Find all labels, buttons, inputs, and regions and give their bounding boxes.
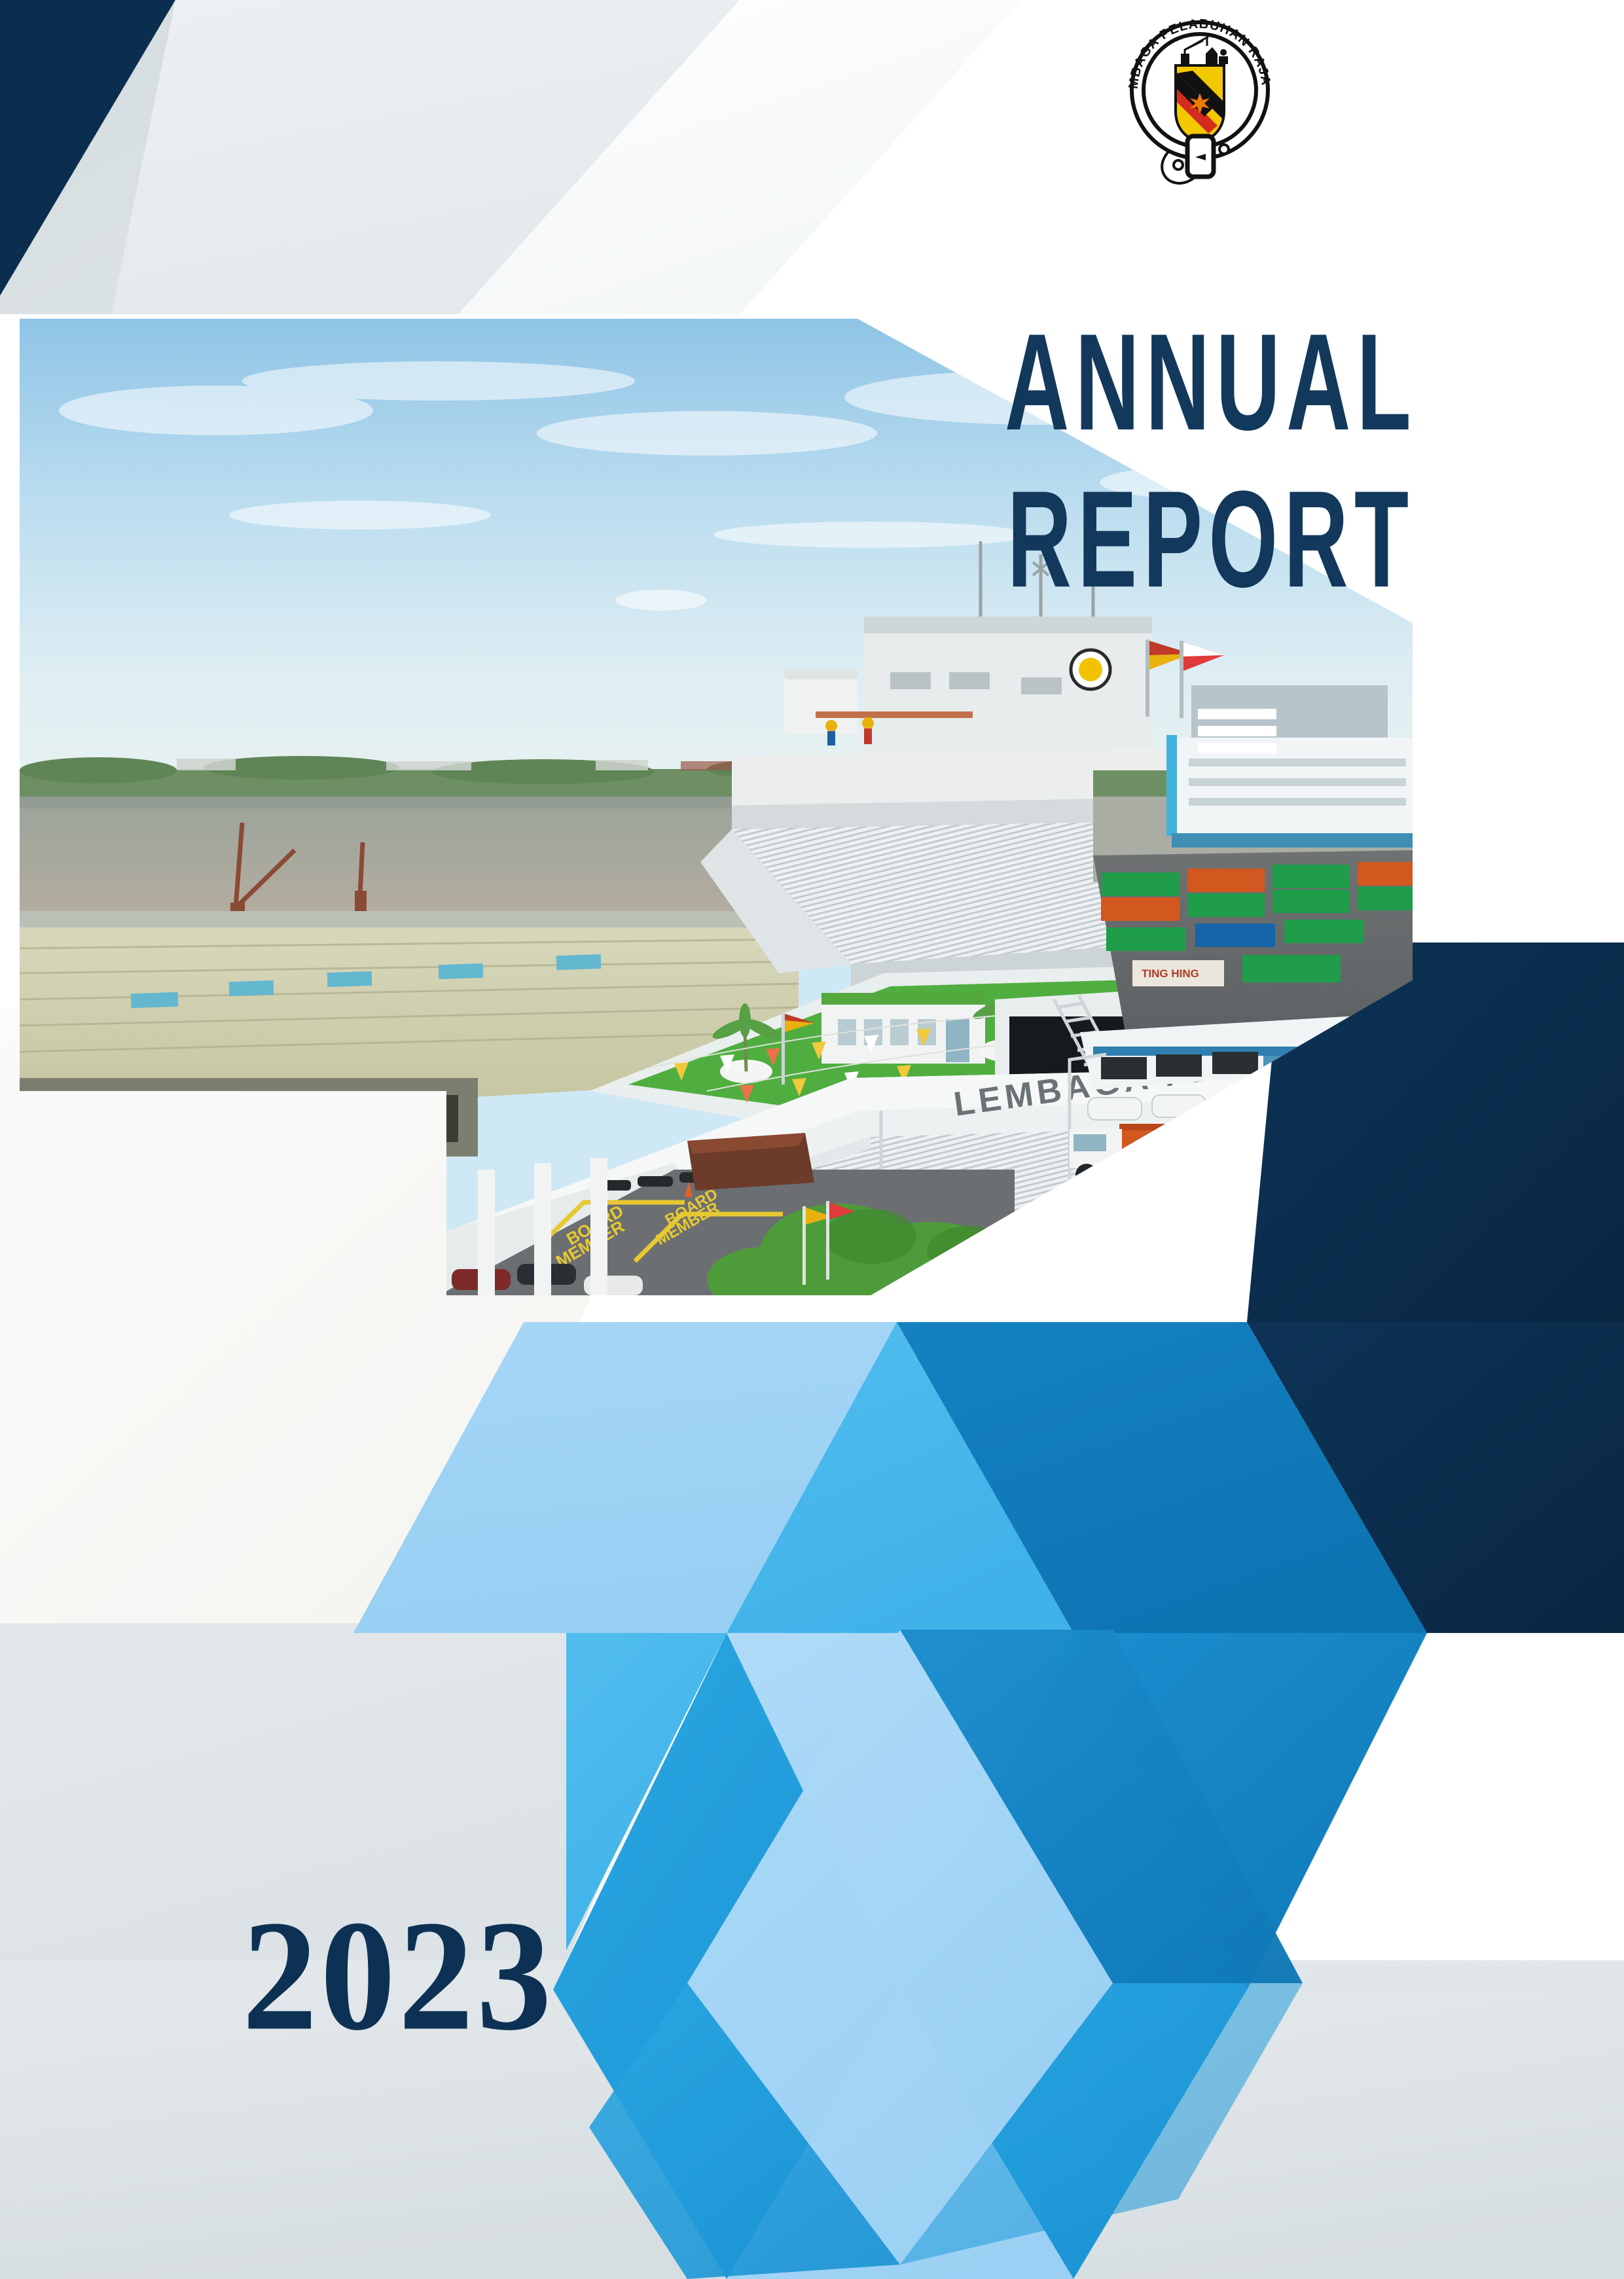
page-title: ANNUAL REPORT	[844, 314, 1578, 568]
report-year: 2023	[242, 1885, 554, 2067]
title-line-report: REPORT	[874, 471, 1548, 609]
annual-report-cover-page: LEMBAGA PELABUHAN RAJANG	[0, 0, 1624, 2279]
lembaga-pelabuhan-rajang-logo: LEMBAGA PELABUHAN RAJANG	[1125, 13, 1275, 190]
svg-text:SIN YANG: SIN YANG	[1159, 1143, 1252, 1165]
title-line-annual: ANNUAL	[874, 314, 1548, 452]
svg-text:TING HING: TING HING	[1142, 967, 1199, 980]
